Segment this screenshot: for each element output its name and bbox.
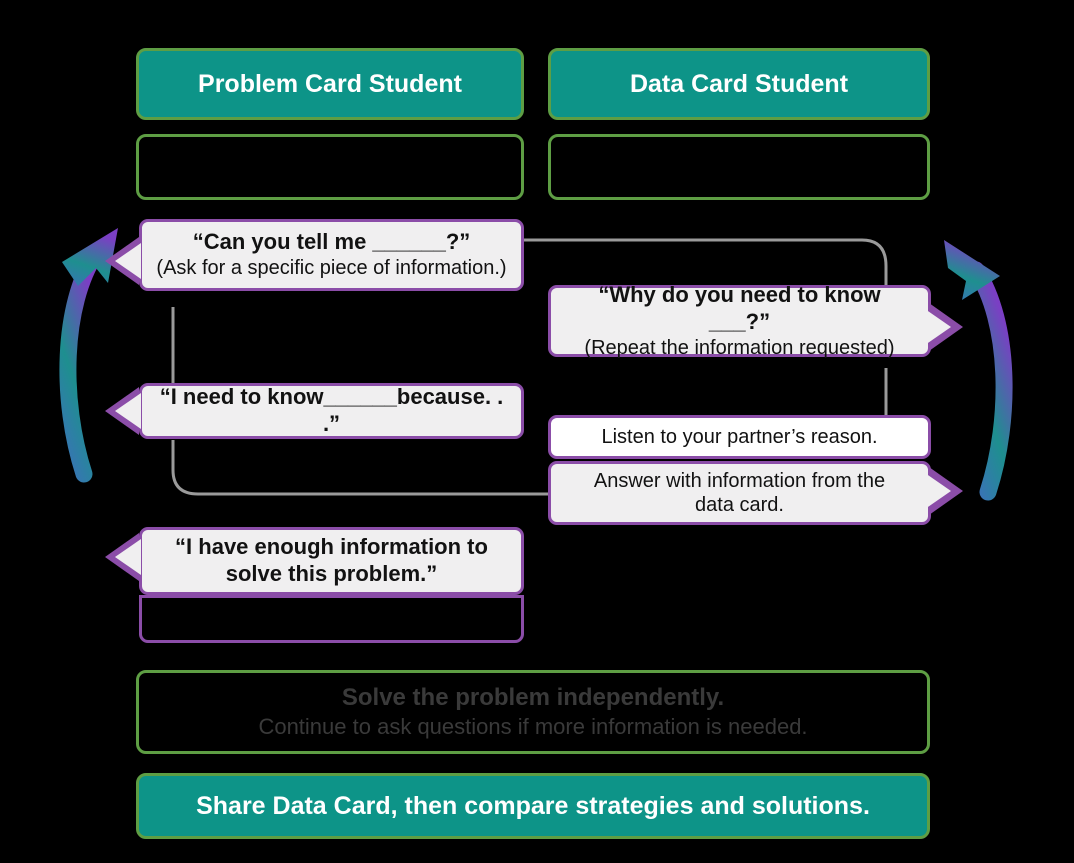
diagram-canvas: Problem Card Student Data Card Student “… [0,0,1074,863]
footer-solve-independently: Solve the problem independently. Continu… [136,670,930,754]
box-answer-with-information: Answer with information from the data ca… [548,461,931,525]
bubble-tail-need-inner [115,393,141,429]
box-answer-line2: data card. [695,493,784,517]
bubble-why-line1: “Why do you need to know ___?” [565,282,914,336]
data-card-slot[interactable] [548,134,930,200]
bubble-ask-for-information: “Can you tell me ______?” (Ask for a spe… [139,219,524,291]
bubble-why-line2: (Repeat the information requested) [584,336,894,360]
bubble-i-have-enough-information: “I have enough information to solve this… [139,527,524,595]
curved-arrow-up-icon-right [944,240,1004,492]
footer-solve-line2: Continue to ask questions if more inform… [258,713,807,741]
problem-card-slot[interactable] [136,134,524,200]
footer-share-data-card: Share Data Card, then compare strategies… [136,773,930,839]
bubble-ask-line2: (Ask for a specific piece of information… [156,256,506,280]
bubble-need-line1: “I need to know______because. . .” [156,384,507,438]
header-problem-card-student-label: Problem Card Student [198,69,462,99]
bubble-why-do-you-need-to-know: “Why do you need to know ___?” (Repeat t… [548,285,931,357]
bubble-i-need-to-know: “I need to know______because. . .” [139,383,524,439]
box-answer-line1: Answer with information from the [594,469,885,493]
header-data-card-student-label: Data Card Student [630,69,848,99]
box-listen-line1: Listen to your partner’s reason. [601,425,877,449]
bubble-tail-why-inner [925,309,951,345]
connector-need-to-answer [173,440,552,494]
header-data-card-student: Data Card Student [548,48,930,120]
bubble-ask-line1: “Can you tell me ______?” [193,229,471,256]
box-listen-to-partner: Listen to your partner’s reason. [548,415,931,459]
header-problem-card-student: Problem Card Student [136,48,524,120]
bubble-enough-line2: solve this problem.” [226,561,438,588]
bubble-tail-enough-inner [115,539,141,575]
bubble-enough-line1: “I have enough information to [175,534,488,561]
bubble-tail-ask-inner [115,243,141,279]
footer-solve-line1: Solve the problem independently. [258,683,807,714]
solution-work-area[interactable] [139,595,524,643]
footer-share-label: Share Data Card, then compare strategies… [196,791,870,821]
bubble-tail-answer-inner [925,473,951,509]
